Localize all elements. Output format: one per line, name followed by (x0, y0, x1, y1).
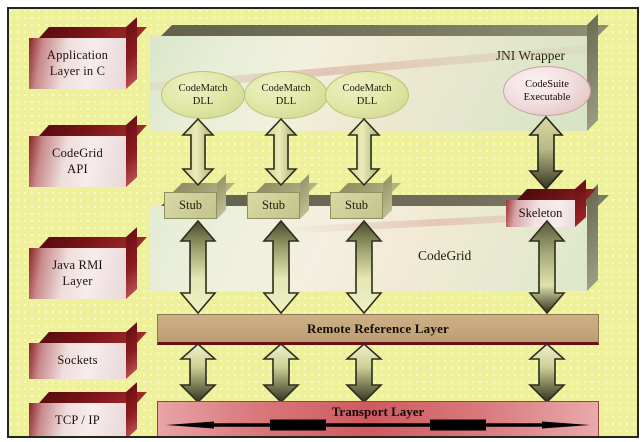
box-front-face: TCP / IP (29, 403, 126, 438)
arrow-rrl-to-transport-1 (179, 343, 217, 403)
layer-box-tcp-ip: TCP / IP (29, 392, 137, 438)
arrow-codesuite-to-skeleton (528, 115, 564, 191)
dll-label-line1: CodeMatch (343, 82, 392, 95)
box-front-face: Java RMI Layer (29, 248, 126, 299)
layer-label-line1: Java RMI (52, 258, 103, 272)
dll-label-line2: DLL (276, 95, 296, 108)
box-front-face: Stub (164, 192, 217, 219)
layer-box-codegrid-api: CodeGrid API (29, 125, 137, 187)
box-front-face: Stub (247, 192, 300, 219)
arrow-dll1-to-stub1 (181, 117, 215, 187)
box-front-face: Sockets (29, 343, 126, 379)
stub-label: Stub (262, 198, 285, 213)
stub-label: Stub (179, 198, 202, 213)
layer-box-java-rmi-layer: Java RMI Layer (29, 237, 137, 299)
exe-label-line2: Executable (524, 91, 571, 104)
bidirectional-arrow-icon (166, 418, 590, 430)
arrow-rrl-to-transport-4 (528, 343, 566, 403)
box-side-face (126, 115, 137, 187)
diagram-frame: Application Layer in C CodeGrid API Java… (7, 7, 639, 438)
dll-label-line2: DLL (357, 95, 377, 108)
dll-label-line2: DLL (193, 95, 213, 108)
box-front-face: CodeGrid API (29, 136, 126, 187)
stub-label: Stub (345, 198, 368, 213)
box-side-face (575, 179, 586, 227)
layer-box-sockets: Sockets (29, 332, 137, 379)
arrow-stub2-to-rrl (262, 219, 300, 315)
transport-layer-bar: Transport Layer (157, 401, 599, 437)
dll-label-line1: CodeMatch (262, 82, 311, 95)
box-side-face (126, 227, 137, 299)
codematch-dll-1: CodeMatch DLL (161, 71, 245, 119)
remote-reference-layer-label: Remote Reference Layer (307, 321, 449, 337)
box-side-face (126, 382, 137, 438)
box-front-face: Stub (330, 192, 383, 219)
box-front-face: Application Layer in C (29, 38, 126, 89)
stub-box-1: Stub (164, 183, 226, 219)
arrow-rrl-to-transport-2 (262, 343, 300, 403)
layer-label-line1: Sockets (57, 353, 97, 368)
layer-label-line2: API (67, 162, 88, 176)
layer-label-line2: Layer (62, 274, 92, 288)
stub-box-3: Stub (330, 183, 392, 219)
box-side-face (126, 17, 137, 89)
layer-label-line1: CodeGrid (52, 146, 103, 160)
layer-label-line1: TCP / IP (55, 413, 100, 428)
layer-box-application-layer: Application Layer in C (29, 27, 137, 89)
codesuite-executable: CodeSuite Executable (503, 66, 591, 116)
dll-label-line1: CodeMatch (179, 82, 228, 95)
arrow-dll3-to-stub3 (347, 117, 381, 187)
arrow-stub3-to-rrl (345, 219, 383, 315)
box-side-face (383, 174, 392, 219)
slab-top-face (161, 25, 609, 36)
layer-label-line1: Application (47, 48, 108, 62)
exe-label-line1: CodeSuite (525, 78, 569, 91)
jni-wrapper-label: JNI Wrapper (496, 48, 565, 64)
stub-box-2: Stub (247, 183, 309, 219)
box-side-face (217, 174, 226, 219)
box-side-face (300, 174, 309, 219)
slab-side-face (587, 184, 598, 291)
arrow-dll2-to-stub2 (264, 117, 298, 187)
codematch-dll-2: CodeMatch DLL (244, 71, 328, 119)
box-side-face (126, 322, 137, 379)
arrow-stub1-to-rrl (179, 219, 217, 315)
codematch-dll-3: CodeMatch DLL (325, 71, 409, 119)
slab-side-face (587, 14, 598, 131)
arrow-rrl-to-transport-3 (345, 343, 383, 403)
remote-reference-layer-bar: Remote Reference Layer (157, 314, 599, 345)
codegrid-label: CodeGrid (418, 248, 471, 264)
diagram-canvas: Application Layer in C CodeGrid API Java… (0, 0, 643, 442)
layer-label-line2: Layer in C (50, 64, 105, 78)
arrow-skeleton-to-rrl (528, 219, 566, 315)
